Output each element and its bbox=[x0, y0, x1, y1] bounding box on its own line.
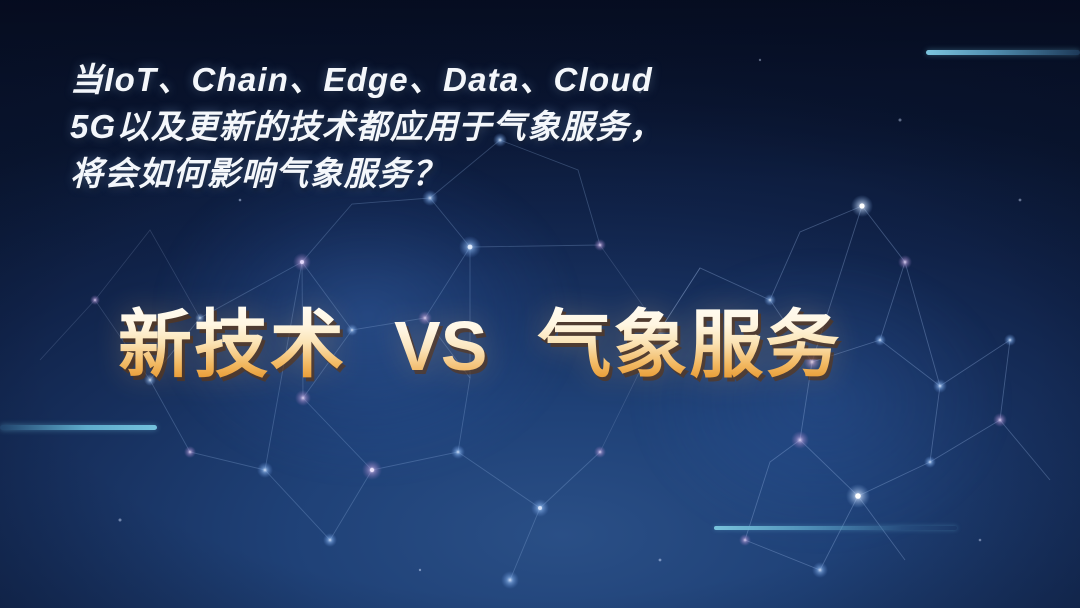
main-title-versus: VS bbox=[394, 303, 487, 389]
main-title-right: 气象服务 bbox=[537, 302, 841, 388]
headline-line-2: 5G以及更新的技术都应用于气象服务， bbox=[70, 103, 1000, 150]
main-title: 新技术 VS 气象服务 bbox=[118, 302, 841, 389]
main-title-left: 新技术 bbox=[118, 302, 346, 388]
accent-line-bottom-right bbox=[714, 526, 957, 530]
headline-block: 当IoT、Chain、Edge、Data、Cloud 5G以及更新的技术都应用于… bbox=[70, 56, 1000, 197]
accent-line-top-right bbox=[926, 50, 1080, 55]
headline-line-3: 将会如何影响气象服务？ bbox=[70, 150, 1000, 197]
presentation-slide: 当IoT、Chain、Edge、Data、Cloud 5G以及更新的技术都应用于… bbox=[0, 0, 1080, 608]
accent-line-left bbox=[0, 425, 157, 430]
headline-line-1: 当IoT、Chain、Edge、Data、Cloud bbox=[70, 56, 1000, 103]
